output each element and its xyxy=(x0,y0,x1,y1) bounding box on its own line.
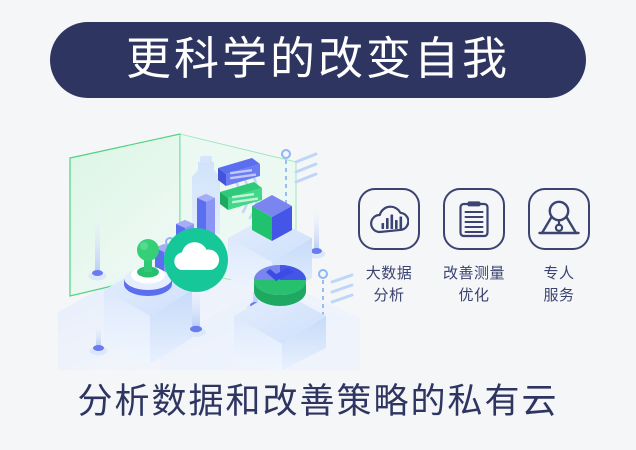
poster-canvas: 更科学的改变自我 xyxy=(0,0,636,450)
tagline: 分析数据和改善策略的私有云 xyxy=(0,384,636,419)
cloud-chart-icon xyxy=(369,202,409,236)
pie-chart xyxy=(254,265,306,306)
page-title: 更科学的改变自我 xyxy=(126,36,510,84)
support-agent-icon xyxy=(538,200,580,238)
feature-label: 改善测量 优化 xyxy=(443,263,505,307)
feature-icon-box xyxy=(443,188,505,250)
title-banner: 更科学的改变自我 xyxy=(50,22,586,98)
feature-label: 大数据 分析 xyxy=(366,263,413,307)
feature-measure-optimize[interactable]: 改善测量 优化 xyxy=(437,188,511,307)
clipboard-icon xyxy=(458,200,490,238)
feature-dedicated-service[interactable]: 专人 服务 xyxy=(522,188,596,307)
feature-icon-box xyxy=(358,188,420,250)
feature-list: 大数据 分析 改善测量 优化 xyxy=(352,188,596,338)
feature-icon-box xyxy=(528,188,590,250)
hero-illustration xyxy=(40,120,360,370)
feature-label: 专人 服务 xyxy=(543,263,574,307)
feature-big-data-analysis[interactable]: 大数据 分析 xyxy=(352,188,426,307)
